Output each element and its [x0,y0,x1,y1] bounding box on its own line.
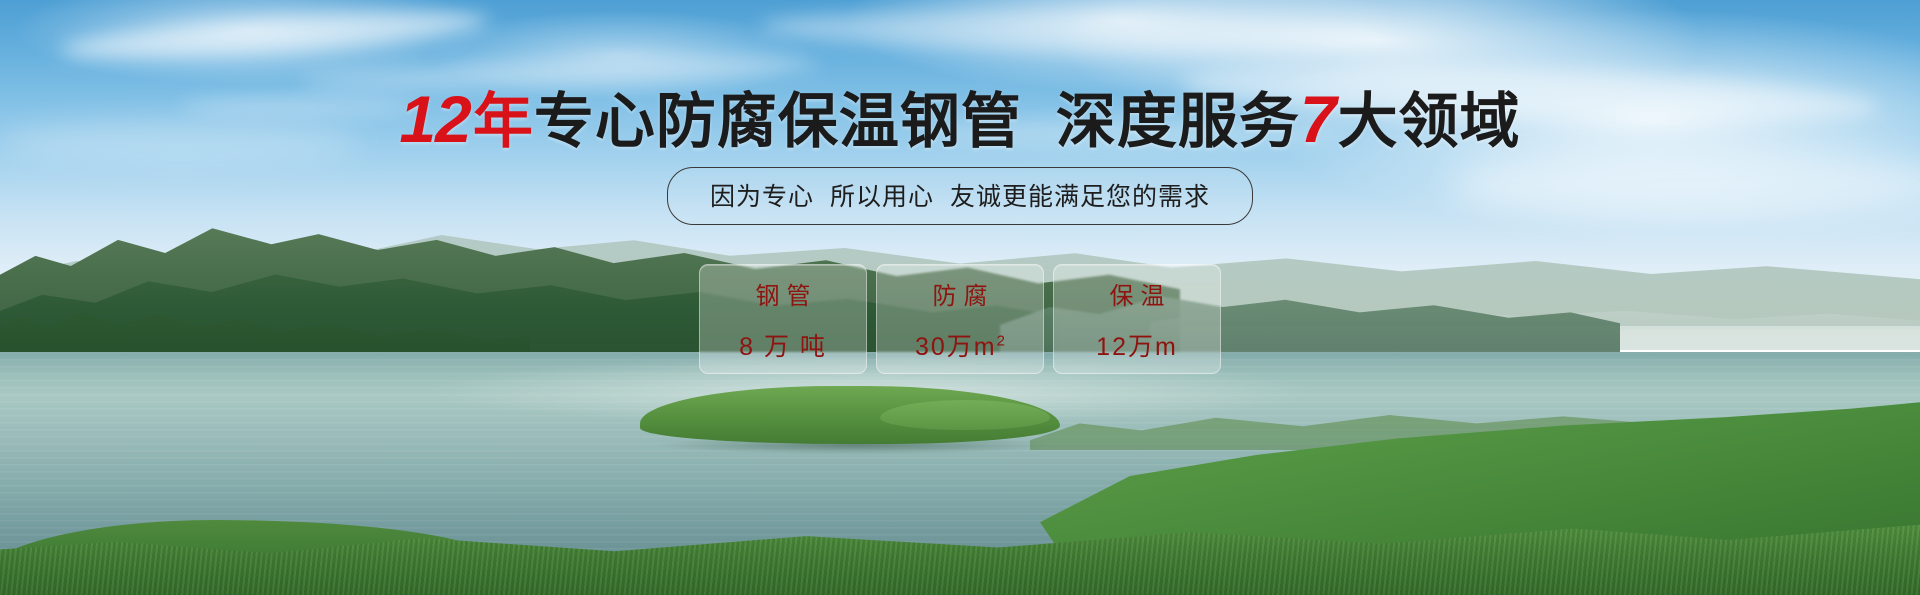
stat-card-value-text: 30万m [915,333,997,361]
banner-headline: 12年专心防腐保温钢管深度服务7大领域 [0,86,1920,152]
headline-part-b: 深度服务 [1056,88,1300,155]
banner-subtitle-wrap: 因为专心所以用心友诚更能满足您的需求 [0,167,1920,225]
stat-card-value-text: 8 万 吨 [739,333,827,361]
headline-part-c: 大领域 [1338,88,1521,155]
headline-highlight-number: 7 [1300,82,1338,156]
stat-card-title: 保温 [1103,276,1172,311]
stat-card-steel-pipe[interactable]: 钢管 8 万 吨 [699,264,867,374]
headline-years-number: 12 [399,82,472,156]
banner-subtitle-pill: 因为专心所以用心友诚更能满足您的需求 [667,167,1253,225]
stat-card-group: 钢管 8 万 吨 防腐 30万m2 保温 12万m [0,264,1920,374]
stat-card-value-text: 12万m [1096,333,1178,361]
stat-card-insulation[interactable]: 保温 12万m [1053,264,1221,374]
stat-card-title: 防腐 [926,276,995,311]
subtitle-segment-1: 因为专心 [710,183,814,211]
headline-years-suffix: 年 [473,88,534,155]
subtitle-segment-3: 友诚更能满足您的需求 [950,183,1210,211]
stat-card-value: 8 万 吨 [739,327,827,363]
stat-card-value: 30万m2 [915,327,1005,363]
stat-card-value: 12万m [1096,327,1178,363]
subtitle-segment-2: 所以用心 [830,183,934,211]
headline-part-a: 专心防腐保温钢管 [534,88,1022,155]
hero-banner: 12年专心防腐保温钢管深度服务7大领域 因为专心所以用心友诚更能满足您的需求 钢… [0,0,1920,595]
stat-card-title: 钢管 [749,276,818,311]
stat-card-anticorrosion[interactable]: 防腐 30万m2 [876,264,1044,374]
grass-islet-small [880,400,1050,430]
stat-card-value-sup: 2 [997,332,1005,349]
